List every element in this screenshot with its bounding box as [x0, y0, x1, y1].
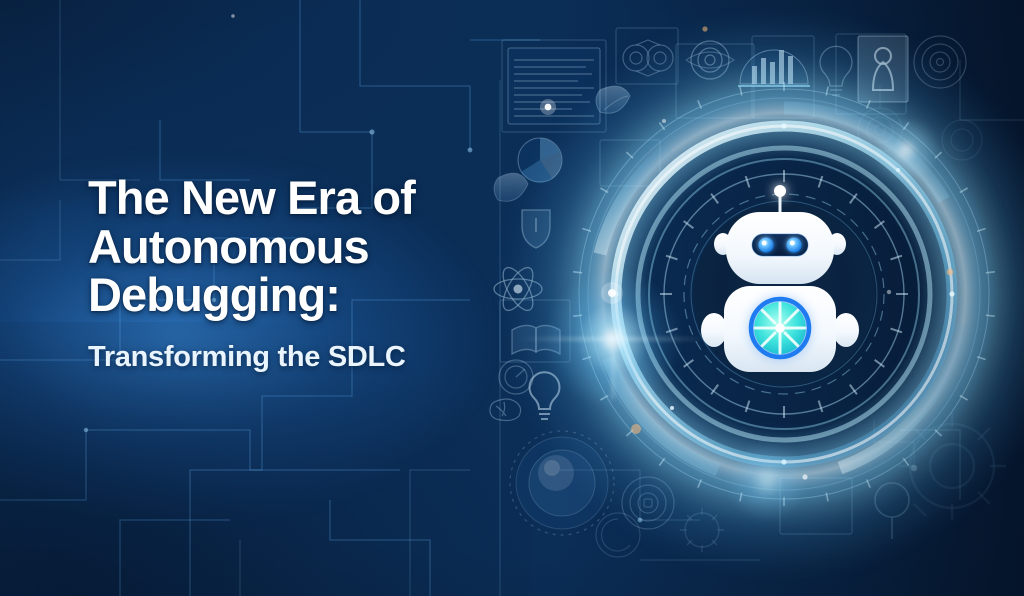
page-subtitle: Transforming the SDLC [88, 341, 508, 374]
hero-banner: The New Era of Autonomous Debugging: Tra… [0, 0, 1024, 596]
page-title: The New Era of Autonomous Debugging: [88, 174, 508, 320]
hero-text-block: The New Era of Autonomous Debugging: Tra… [88, 174, 508, 374]
